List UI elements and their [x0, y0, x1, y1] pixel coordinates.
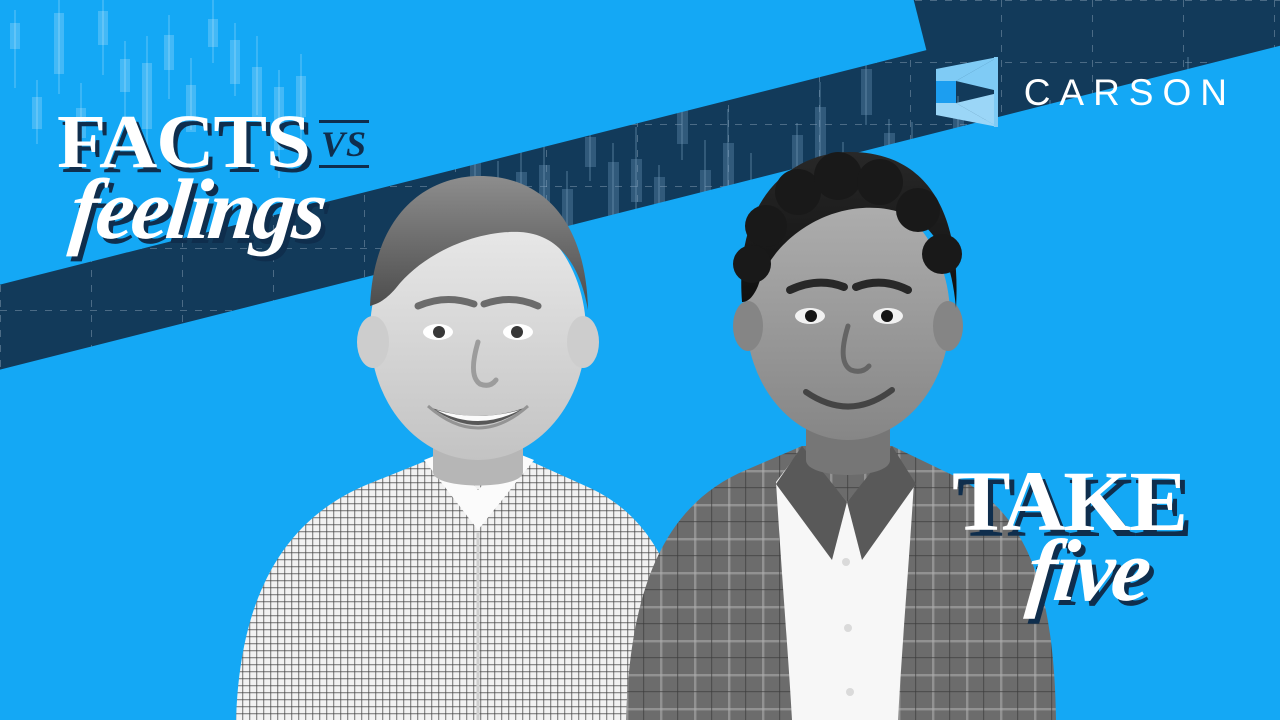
segment-title-five: five: [1023, 528, 1152, 616]
show-title-lockup: FACTS VS feelings: [57, 104, 407, 274]
candlestick-bar: [10, 23, 20, 49]
candlestick-bar: [164, 35, 174, 71]
candlestick-bar: [54, 13, 64, 74]
show-title-feelings: feelings: [66, 166, 328, 252]
podcast-cover-art: CARSON FACTS VS feelings TAKE five: [0, 0, 1280, 720]
host-portrait-right: [626, 130, 1056, 720]
carson-logo[interactable]: CARSON: [936, 57, 1236, 127]
candlestick-bar: [230, 40, 240, 84]
carson-wordmark: CARSON: [1024, 74, 1236, 111]
candlestick-bar: [32, 97, 42, 129]
segment-title-lockup: TAKE five: [952, 458, 1242, 628]
candlestick-bar: [208, 19, 218, 48]
candlestick-bar: [120, 59, 130, 92]
carson-chevron-mark-icon: [936, 57, 998, 127]
candlestick-bar: [98, 11, 108, 45]
